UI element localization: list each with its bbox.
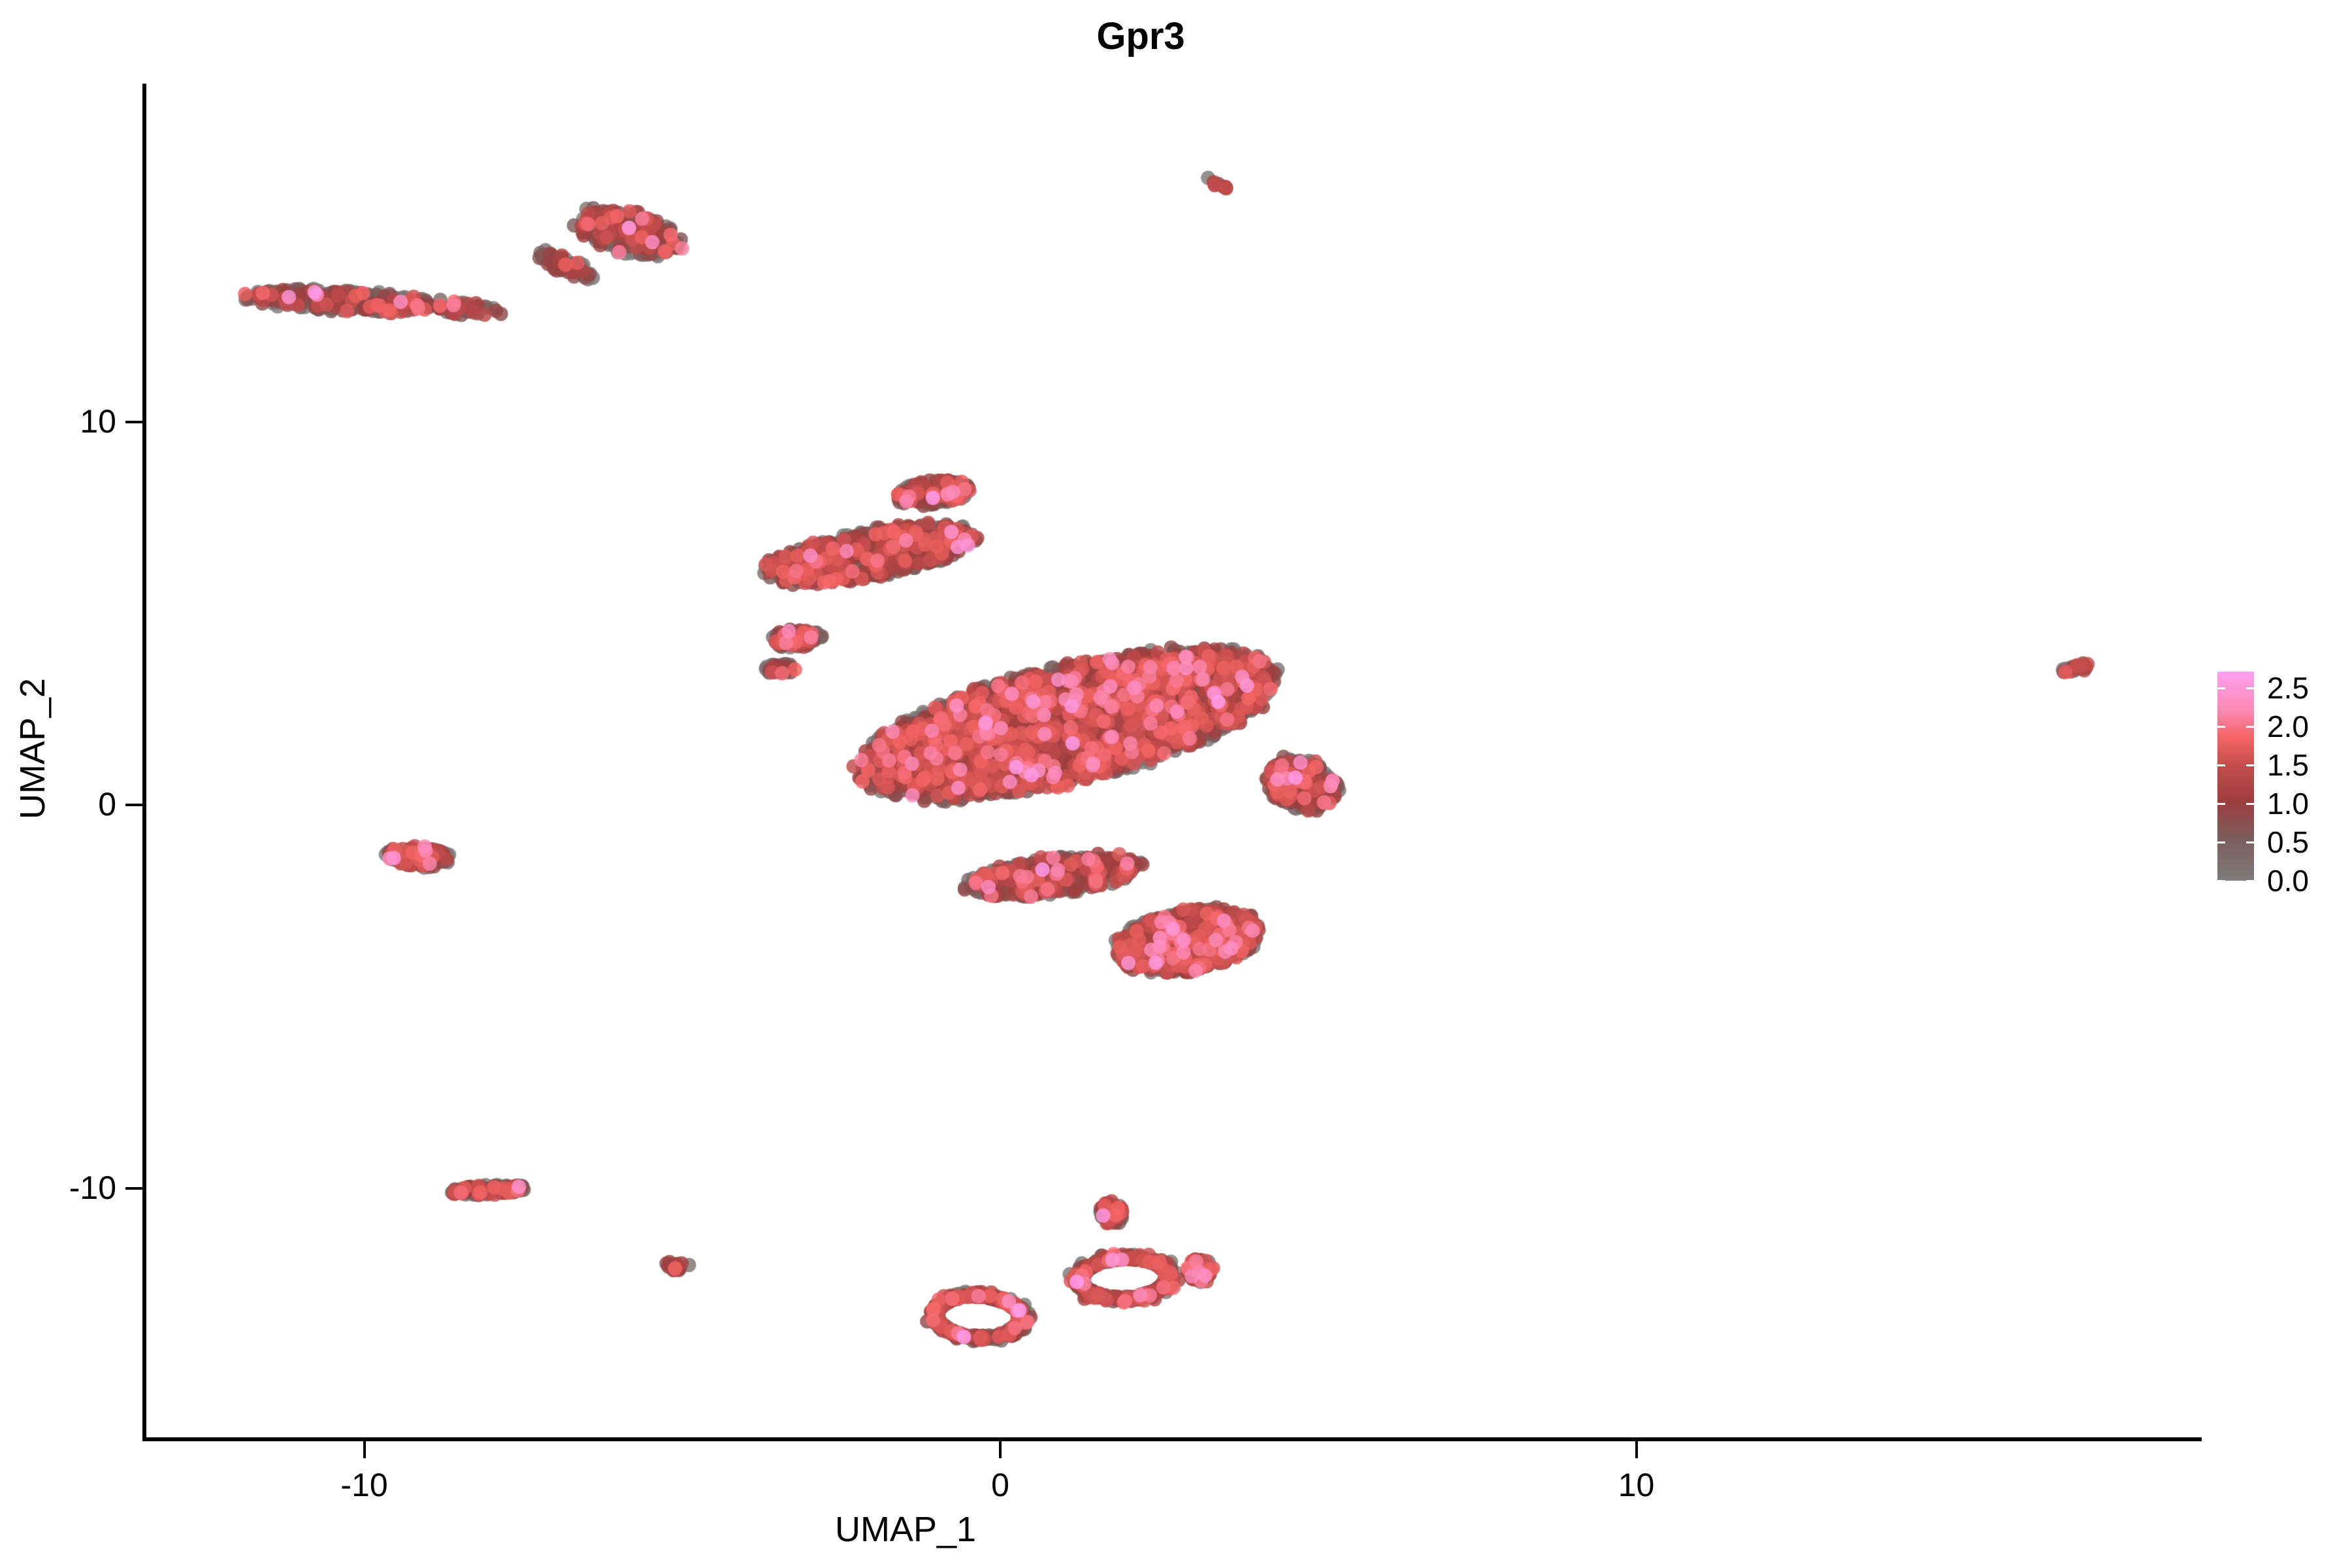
colorbar-ticklabel: 0.5	[2267, 827, 2309, 857]
x-axis-line	[142, 1437, 2202, 1441]
colorbar-tick	[2246, 841, 2254, 843]
colorbar-tick	[2246, 687, 2254, 689]
colorbar-tick	[2217, 803, 2225, 805]
y-axis-line	[142, 84, 146, 1441]
y-axis-tick	[125, 804, 142, 806]
colorbar-tick	[2217, 687, 2225, 689]
scatter-plot-canvas[interactable]	[144, 85, 2202, 1439]
colorbar-ticklabel: 1.0	[2267, 789, 2309, 819]
colorbar-legend[interactable]: 0.00.51.01.52.02.5	[2217, 672, 2348, 887]
y-axis-ticklabel: -10	[0, 1169, 116, 1207]
x-axis-ticklabel: -10	[267, 1466, 463, 1504]
colorbar-tick	[2246, 880, 2254, 882]
colorbar-ticklabel: 2.0	[2267, 711, 2309, 742]
colorbar-tick	[2217, 764, 2225, 766]
y-axis-ticklabel: 10	[0, 402, 116, 440]
plot-panel[interactable]	[144, 85, 2202, 1439]
x-axis-tick	[1635, 1441, 1638, 1458]
x-axis-tick	[999, 1441, 1002, 1458]
colorbar-ticklabel: 1.5	[2267, 750, 2309, 780]
y-axis-tick	[125, 1187, 142, 1190]
colorbar-tick	[2246, 803, 2254, 805]
x-axis-tick	[363, 1441, 366, 1458]
y-axis-tick	[125, 421, 142, 423]
y-axis-title: UMAP_2	[12, 455, 53, 1043]
colorbar-tick	[2217, 841, 2225, 843]
colorbar-tick	[2246, 764, 2254, 766]
x-axis-ticklabel: 10	[1539, 1466, 1735, 1504]
page-title: Gpr3	[0, 14, 2317, 58]
x-axis-title: UMAP_1	[0, 1509, 2082, 1550]
colorbar-gradient	[2217, 672, 2254, 881]
colorbar-tick	[2217, 880, 2225, 882]
colorbar-ticklabel: 0.0	[2267, 866, 2309, 896]
x-axis-ticklabel: 0	[902, 1466, 1098, 1504]
colorbar-tick	[2217, 726, 2225, 728]
figure-root: Gpr3 -10 0 10 10 0 -10 UMAP_1 UMAP_2 0.0…	[0, 0, 2352, 1568]
colorbar-tick	[2246, 726, 2254, 728]
colorbar-ticklabel: 2.5	[2267, 673, 2309, 703]
